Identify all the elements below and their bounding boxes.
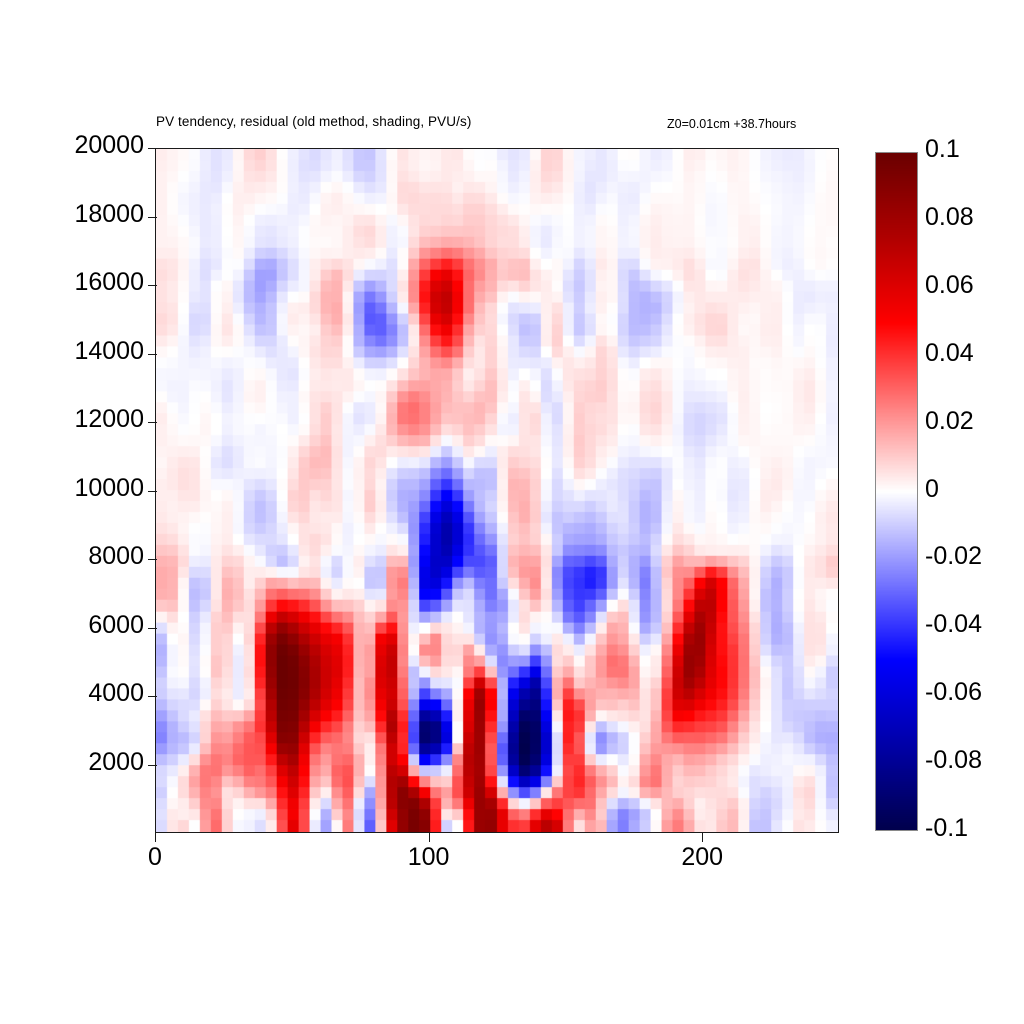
figure-canvas: PV tendency, residual (old method, shadi… xyxy=(0,0,1024,1024)
y-axis-tick-label: 4000 xyxy=(44,681,144,706)
colorbar-tick-label: 0.06 xyxy=(925,273,974,298)
x-axis-tick-label: 100 xyxy=(384,845,474,870)
colorbar xyxy=(875,152,918,831)
y-axis-tick-label: 18000 xyxy=(44,202,144,227)
colorbar-tick-label: -0.06 xyxy=(925,680,982,705)
y-axis-tick xyxy=(148,559,157,560)
y-axis-tick-label: 20000 xyxy=(44,133,144,158)
colorbar-tick-label: -0.02 xyxy=(925,544,982,569)
y-axis-tick xyxy=(148,148,157,149)
y-axis-tick-label: 8000 xyxy=(44,544,144,569)
y-axis-tick xyxy=(148,696,157,697)
plot-annotation: Z0=0.01cm +38.7hours xyxy=(667,117,796,131)
colorbar-tick-label: 0 xyxy=(925,477,939,502)
colorbar-tick-label: 0.02 xyxy=(925,409,974,434)
x-axis-tick-label: 200 xyxy=(657,845,747,870)
plot-title: PV tendency, residual (old method, shadi… xyxy=(156,114,471,129)
y-axis-tick-label: 6000 xyxy=(44,613,144,638)
colorbar-tick-label: 0.04 xyxy=(925,341,974,366)
y-axis-tick xyxy=(148,422,157,423)
x-axis-tick xyxy=(429,833,430,842)
y-axis-tick-label: 2000 xyxy=(44,750,144,775)
y-axis-tick xyxy=(148,217,157,218)
y-axis-tick xyxy=(148,628,157,629)
y-axis-tick xyxy=(148,354,157,355)
plot-area xyxy=(155,148,839,833)
y-axis-tick xyxy=(148,491,157,492)
colorbar-tick-label: -0.08 xyxy=(925,748,982,773)
colorbar-tick-label: -0.04 xyxy=(925,612,982,637)
y-axis-tick-label: 16000 xyxy=(44,270,144,295)
colorbar-gradient xyxy=(876,153,917,830)
y-axis-tick xyxy=(148,765,157,766)
y-axis-tick xyxy=(148,285,157,286)
y-axis-tick-label: 10000 xyxy=(44,476,144,501)
y-axis-tick-label: 14000 xyxy=(44,339,144,364)
colorbar-tick-label: 0.1 xyxy=(925,137,960,162)
x-axis-tick xyxy=(702,833,703,842)
colorbar-tick-label: -0.1 xyxy=(925,816,968,841)
x-axis-tick-label: 0 xyxy=(110,845,200,870)
y-axis-tick-label: 12000 xyxy=(44,407,144,432)
colorbar-tick-label: 0.08 xyxy=(925,205,974,230)
x-axis-tick xyxy=(155,833,156,842)
heatmap-canvas xyxy=(156,149,838,832)
